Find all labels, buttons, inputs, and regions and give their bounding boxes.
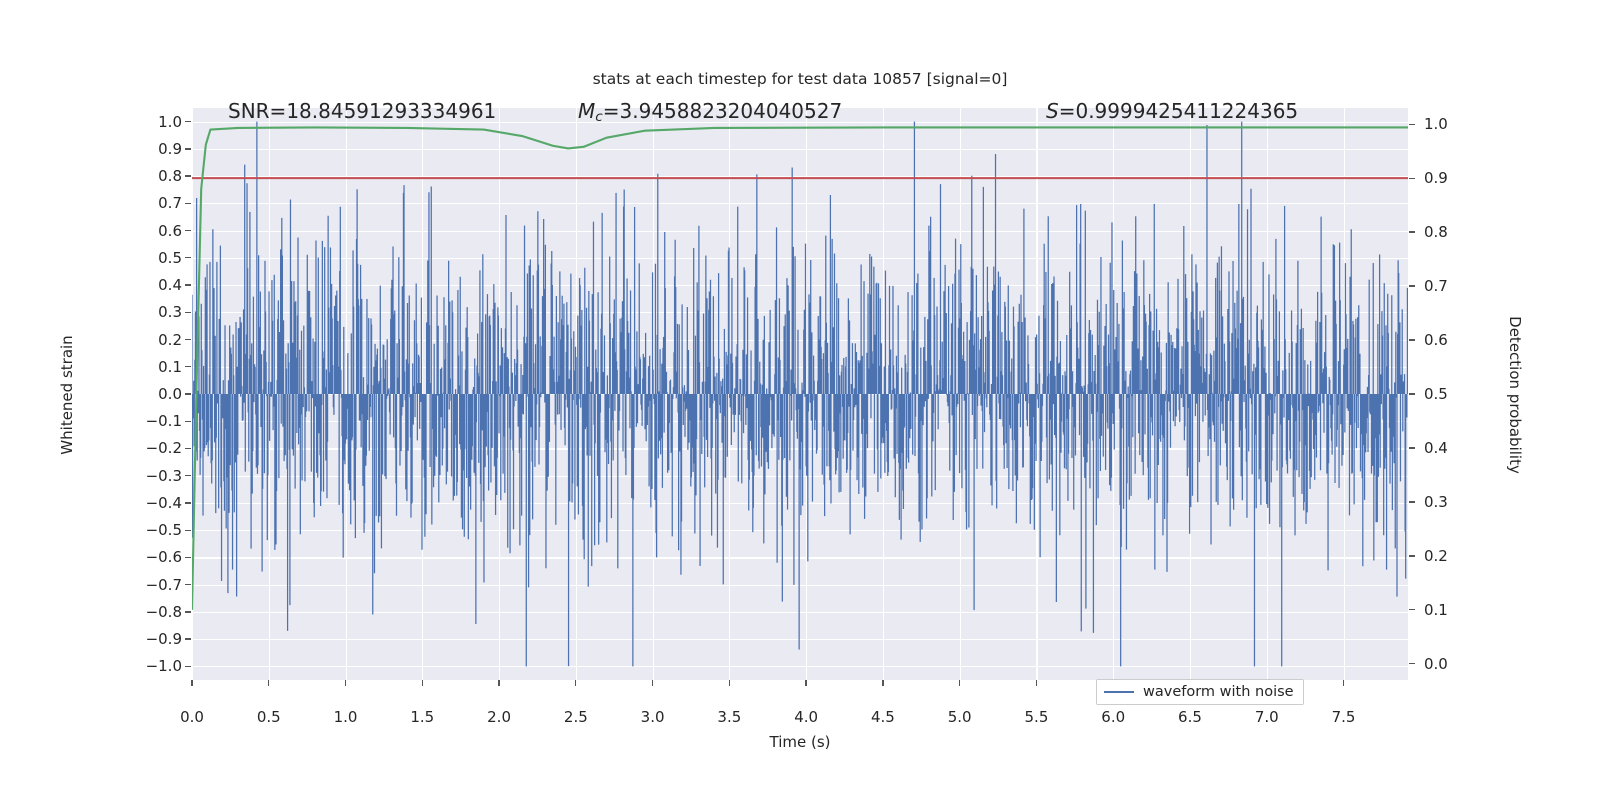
annotation-snr: SNR=18.84591293334961	[228, 99, 496, 123]
x-axis-tick-mark	[345, 680, 346, 686]
x-axis-tick-label: 4.0	[794, 708, 818, 726]
y-axis-tick-label-left: 0.0	[122, 385, 182, 403]
y-axis-tick-label-left: 0.4	[122, 276, 182, 294]
y-axis-tick-mark-right	[1409, 285, 1415, 286]
annotation-snr-label: SNR=	[228, 99, 286, 123]
y-axis-label-left: Whitened strain	[58, 285, 76, 505]
y-axis-tick-mark-right	[1409, 609, 1415, 610]
annotation-mc-equals: =	[603, 99, 620, 123]
y-axis-tick-mark-left	[185, 475, 191, 476]
y-axis-tick-mark-right	[1409, 555, 1415, 556]
y-axis-tick-mark-left	[185, 148, 191, 149]
annotation-score: S=0.9999425411224365	[1046, 99, 1298, 123]
y-axis-tick-label-right: 0.3	[1424, 493, 1484, 511]
page-title: stats at each timestep for test data 108…	[0, 70, 1600, 88]
y-axis-tick-mark-right	[1409, 447, 1415, 448]
x-axis-tick-mark	[882, 680, 883, 686]
y-axis-tick-mark-left	[185, 339, 191, 340]
x-axis-tick-mark	[422, 680, 423, 686]
y-axis-tick-mark-left	[185, 666, 191, 667]
y-axis-tick-label-left: 1.0	[122, 113, 182, 131]
annotation-mc-subscript: c	[595, 109, 602, 125]
y-axis-tick-mark-left	[185, 557, 191, 558]
y-axis-tick-label-left: 0.8	[122, 167, 182, 185]
y-axis-tick-label-left: 0.3	[122, 303, 182, 321]
y-axis-tick-label-left: −0.3	[122, 467, 182, 485]
y-axis-tick-mark-left	[185, 312, 191, 313]
x-axis-tick-mark	[191, 680, 192, 686]
x-axis-tick-label: 5.0	[948, 708, 972, 726]
y-axis-tick-label-right: 0.6	[1424, 331, 1484, 349]
annotation-mc-symbol: Mc	[578, 99, 603, 123]
y-axis-tick-label-right: 0.4	[1424, 439, 1484, 457]
annotation-chirp-mass: Mc=3.9458823204040527	[578, 99, 842, 125]
annotation-mc-value: 3.9458823204040527	[620, 99, 843, 123]
legend[interactable]: waveform with noise	[1096, 679, 1304, 705]
y-axis-tick-mark-left	[185, 448, 191, 449]
x-axis-tick-mark	[1036, 680, 1037, 686]
y-axis-tick-label-left: 0.7	[122, 194, 182, 212]
x-axis-tick-mark	[1343, 680, 1344, 686]
y-axis-tick-label-left: −0.6	[122, 548, 182, 566]
y-axis-tick-mark-left	[185, 393, 191, 394]
legend-line-swatch	[1104, 691, 1134, 693]
x-axis-tick-label: 6.0	[1101, 708, 1125, 726]
y-axis-tick-label-left: −0.2	[122, 439, 182, 457]
y-axis-tick-mark-left	[185, 366, 191, 367]
y-axis-tick-mark-left	[185, 638, 191, 639]
y-axis-tick-label-right: 0.2	[1424, 547, 1484, 565]
x-axis-tick-label: 0.5	[257, 708, 281, 726]
annotation-snr-value: 18.84591293334961	[286, 99, 496, 123]
y-axis-tick-label-right: 0.0	[1424, 655, 1484, 673]
y-axis-tick-mark-left	[185, 421, 191, 422]
y-axis-label-left-text: Whitened strain	[58, 335, 76, 454]
x-axis-label: Time (s)	[700, 733, 900, 751]
x-axis-tick-label: 6.5	[1178, 708, 1202, 726]
x-axis-tick-label: 0.0	[180, 708, 204, 726]
y-axis-tick-label-right: 1.0	[1424, 115, 1484, 133]
x-axis-tick-mark	[805, 680, 806, 686]
y-axis-tick-label-left: 0.6	[122, 222, 182, 240]
x-axis-tick-mark	[268, 680, 269, 686]
y-axis-tick-mark-right	[1409, 339, 1415, 340]
plot-area	[192, 108, 1408, 680]
x-axis-tick-label: 4.5	[871, 708, 895, 726]
annotation-s-label: S	[1046, 99, 1059, 123]
y-axis-tick-label-left: −0.4	[122, 494, 182, 512]
y-axis-tick-label-right: 0.8	[1424, 223, 1484, 241]
y-axis-tick-mark-right	[1409, 124, 1415, 125]
annotation-s-value: 0.9999425411224365	[1075, 99, 1298, 123]
y-axis-tick-label-right: 0.5	[1424, 385, 1484, 403]
y-axis-tick-label-right: 0.7	[1424, 277, 1484, 295]
y-axis-tick-mark-left	[185, 121, 191, 122]
x-axis-tick-label: 5.5	[1025, 708, 1049, 726]
y-axis-tick-mark-right	[1409, 178, 1415, 179]
y-axis-tick-label-left: −0.7	[122, 576, 182, 594]
x-axis-tick-mark	[959, 680, 960, 686]
y-axis-tick-mark-left	[185, 502, 191, 503]
y-axis-tick-label-left: −0.9	[122, 630, 182, 648]
x-axis-tick-label: 2.0	[487, 708, 511, 726]
y-axis-tick-mark-right	[1409, 663, 1415, 664]
y-axis-tick-mark-left	[185, 530, 191, 531]
x-axis-tick-mark	[652, 680, 653, 686]
legend-label: waveform with noise	[1143, 684, 1294, 700]
y-axis-tick-mark-left	[185, 284, 191, 285]
annotation-s-symbol: S	[1046, 99, 1059, 123]
annotation-s-equals: =	[1059, 99, 1076, 123]
y-axis-label-right: Detection probability	[1506, 265, 1524, 525]
y-axis-tick-label-left: 0.5	[122, 249, 182, 267]
y-axis-tick-label-right: 0.9	[1424, 169, 1484, 187]
x-axis-tick-label: 2.5	[564, 708, 588, 726]
y-axis-tick-label-left: −0.8	[122, 603, 182, 621]
x-axis-tick-label: 1.0	[334, 708, 358, 726]
y-axis-tick-mark-right	[1409, 393, 1415, 394]
x-axis-tick-mark	[729, 680, 730, 686]
y-axis-tick-label-right: 0.1	[1424, 601, 1484, 619]
y-axis-tick-label-left: 0.2	[122, 331, 182, 349]
y-axis-tick-label-left: −0.1	[122, 412, 182, 430]
figure: stats at each timestep for test data 108…	[0, 0, 1600, 800]
y-axis-tick-mark-right	[1409, 501, 1415, 502]
y-axis-tick-mark-left	[185, 611, 191, 612]
x-axis-tick-mark	[498, 680, 499, 686]
x-axis-tick-label: 3.0	[641, 708, 665, 726]
y-axis-tick-mark-left	[185, 230, 191, 231]
y-axis-tick-mark-left	[185, 257, 191, 258]
y-axis-tick-mark-left	[185, 203, 191, 204]
x-axis-label-text: Time (s)	[770, 733, 831, 751]
x-axis-tick-label: 3.5	[717, 708, 741, 726]
y-axis-tick-label-left: 0.9	[122, 140, 182, 158]
x-axis-tick-label: 1.5	[410, 708, 434, 726]
y-axis-tick-label-left: −1.0	[122, 657, 182, 675]
y-axis-tick-label-left: 0.1	[122, 358, 182, 376]
x-axis-tick-label: 7.5	[1332, 708, 1356, 726]
x-axis-tick-label: 7.0	[1255, 708, 1279, 726]
annotation-mc-label: M	[578, 99, 595, 123]
y-axis-tick-label-left: −0.5	[122, 521, 182, 539]
y-axis-tick-mark-right	[1409, 231, 1415, 232]
y-axis-label-right-text: Detection probability	[1506, 316, 1524, 474]
x-axis-tick-mark	[575, 680, 576, 686]
y-axis-tick-mark-left	[185, 175, 191, 176]
y-axis-tick-mark-left	[185, 584, 191, 585]
probability-overlay	[192, 108, 1408, 680]
detection-probability-curve	[192, 127, 1408, 609]
